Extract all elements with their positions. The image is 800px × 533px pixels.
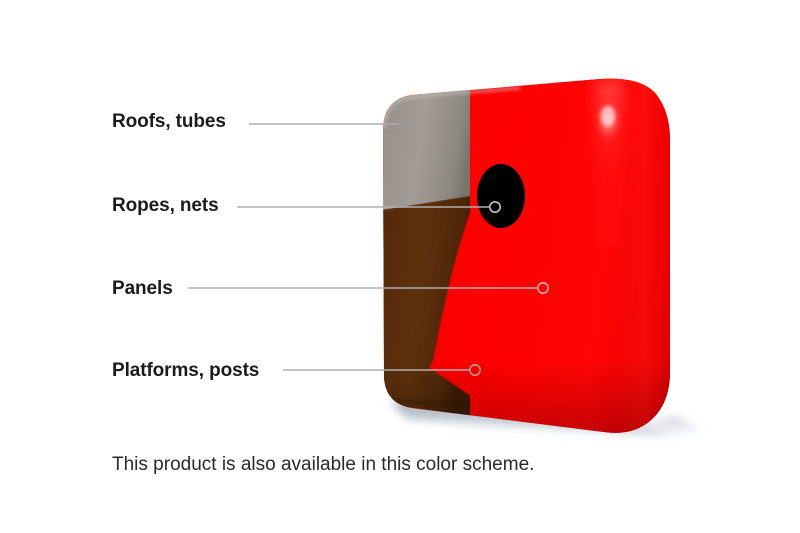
callout-label-roofs-tubes: Roofs, tubes	[112, 112, 226, 131]
diagram-canvas: Roofs, tubes Ropes, nets Panels Platform…	[0, 0, 800, 533]
figure-caption: This product is also available in this c…	[112, 455, 534, 474]
callout-label-ropes-nets: Ropes, nets	[112, 196, 219, 215]
callout-label-platforms-posts: Platforms, posts	[112, 361, 259, 380]
black-circle-detail	[477, 164, 525, 228]
callout-label-panels: Panels	[112, 279, 173, 298]
